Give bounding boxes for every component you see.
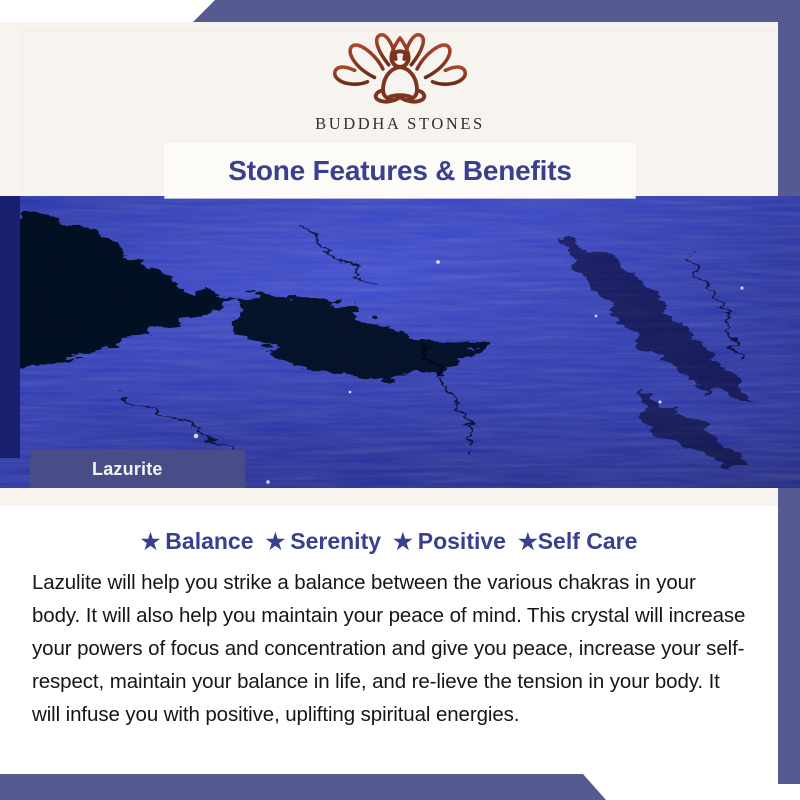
feature-item-self-care: ★ Self Care [506,528,637,555]
page-title: Stone Features & Benefits [228,155,572,187]
stone-description: Lazulite will help you strike a balance … [32,566,746,731]
feature-label: Balance [165,528,253,555]
feature-label: Serenity [290,528,381,555]
frame-accent-bottom [0,774,800,800]
page-title-card: Stone Features & Benefits [165,144,635,198]
lotus-meditation-figure-icon [315,26,485,112]
feature-list: ★ Balance ★ Serenity ★ Positive ★ Self C… [0,528,778,555]
feature-label: Self Care [538,528,638,555]
frame-accent-top [0,0,800,22]
stone-name-badge: Lazurite [30,450,245,488]
star-icon: ★ [518,531,538,553]
feature-item-positive: ★ Positive [381,528,506,555]
feature-item-balance: ★ Balance [141,528,254,555]
brand-logo: BUDDHA STONES [0,26,800,134]
stone-benefits-poster: BUDDHA STONES Stone Features & Benefits [0,0,800,800]
stone-photo [0,196,800,488]
feature-item-serenity: ★ Serenity [254,528,382,555]
feature-label: Positive [418,528,506,555]
star-icon: ★ [393,531,413,553]
star-icon: ★ [141,531,161,553]
content-panel: ★ Balance ★ Serenity ★ Positive ★ Self C… [0,488,778,774]
star-icon: ★ [266,531,286,553]
brand-name: BUDDHA STONES [315,114,485,134]
stone-photo-image [0,196,800,488]
stone-name-label: Lazurite [30,459,163,480]
content-top-tint [0,488,778,506]
